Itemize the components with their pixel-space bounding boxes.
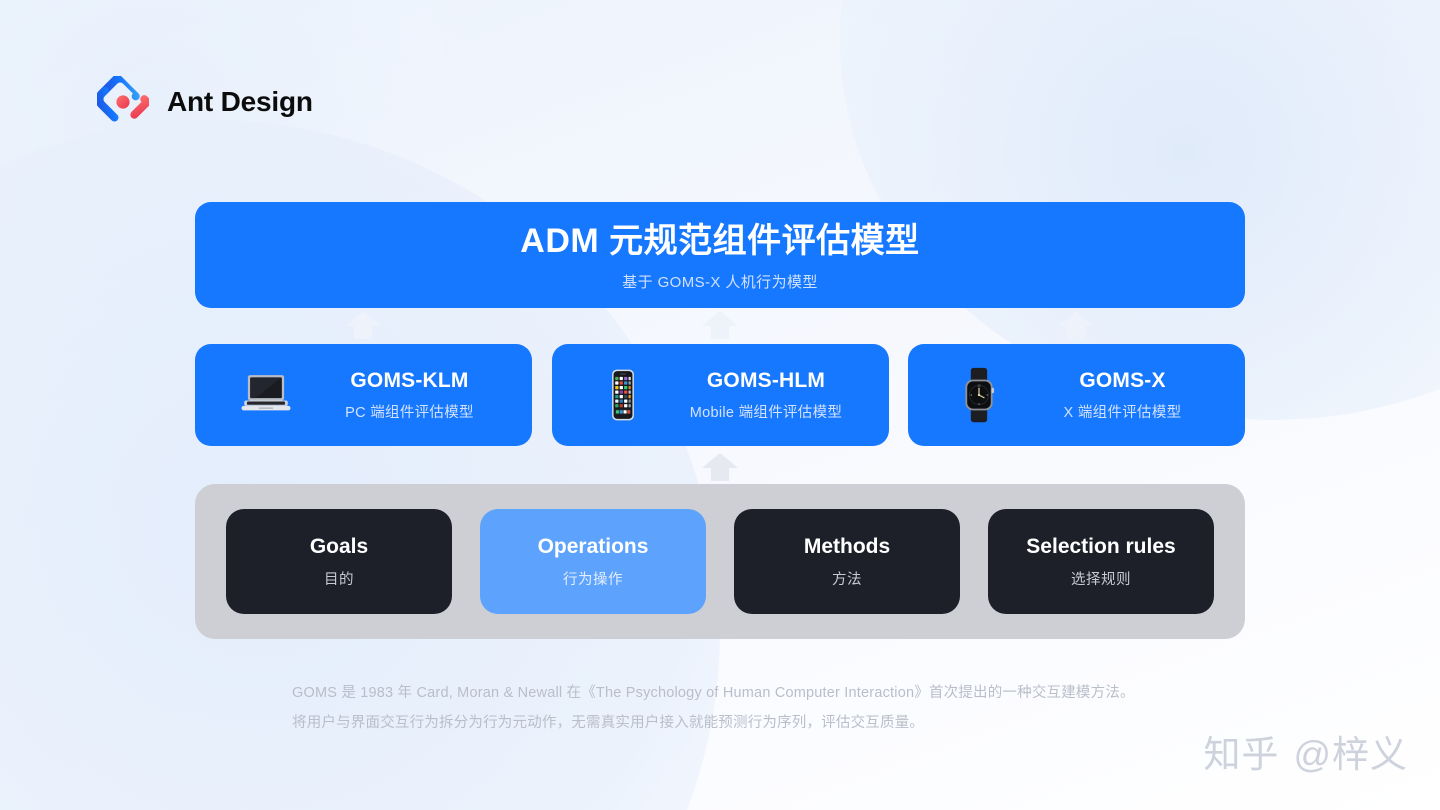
model-subtitle: PC 端组件评估模型 [345, 401, 474, 422]
footnote: GOMS 是 1983 年 Card, Moran & Newall 在《The… [292, 678, 1192, 738]
laptop-icon [237, 366, 295, 424]
model-card-goms-hlm[interactable]: GOMS-HLM Mobile 端组件评估模型 [552, 344, 889, 446]
goms-item-operations[interactable]: Operations 行为操作 [480, 509, 706, 614]
watermark-handle: @梓义 [1293, 724, 1408, 778]
brand-lockup: Ant Design [97, 76, 313, 128]
goms-item-selection-rules[interactable]: Selection rules 选择规则 [988, 509, 1214, 614]
model-card-goms-x[interactable]: 12 3 6 9 GOMS-X X 端组件评估模型 [908, 344, 1245, 446]
goms-title: Goals [310, 534, 368, 559]
arrow-up-icon [698, 310, 742, 340]
arrow-up-icon [1054, 310, 1098, 340]
goms-subtitle: 选择规则 [1071, 568, 1131, 589]
brand-name: Ant Design [167, 86, 313, 118]
model-card-text: GOMS-KLM PC 端组件评估模型 [317, 368, 532, 421]
goms-subtitle: 行为操作 [563, 568, 623, 589]
model-card-text: GOMS-HLM Mobile 端组件评估模型 [674, 368, 889, 421]
watermark: 知乎 @梓义 [1203, 724, 1408, 778]
model-title: GOMS-KLM [350, 368, 468, 393]
smart-watch-icon: 12 3 6 9 [950, 366, 1008, 424]
model-title: GOMS-HLM [707, 368, 825, 393]
page-subtitle: 基于 GOMS-X 人机行为模型 [622, 271, 818, 292]
arrow-up-icon [341, 310, 385, 340]
header-banner: ADM 元规范组件评估模型 基于 GOMS-X 人机行为模型 [195, 202, 1245, 308]
watermark-site: 知乎 [1203, 724, 1279, 778]
mobile-phone-icon [594, 366, 652, 424]
ant-design-logo-icon [97, 76, 149, 128]
model-title: GOMS-X [1079, 368, 1165, 393]
svg-text:12: 12 [977, 383, 981, 387]
model-card-text: GOMS-X X 端组件评估模型 [1030, 368, 1245, 421]
goms-title: Selection rules [1026, 534, 1175, 559]
goms-subtitle: 目的 [324, 568, 354, 589]
slide-canvas: Ant Design ADM 元规范组件评估模型 基于 GOMS-X 人机行为模… [0, 0, 1440, 810]
goms-subtitle: 方法 [832, 568, 862, 589]
model-subtitle: X 端组件评估模型 [1064, 401, 1182, 422]
model-subtitle: Mobile 端组件评估模型 [690, 401, 842, 422]
page-title: ADM 元规范组件评估模型 [520, 222, 919, 261]
goms-panel: Goals 目的 Operations 行为操作 Methods 方法 Sele… [195, 484, 1245, 639]
footnote-line-2: 将用户与界面交互行为拆分为行为元动作，无需真实用户接入就能预测行为序列，评估交互… [292, 708, 1192, 738]
decorative-blob-top-left [0, 0, 460, 400]
footnote-line-1: GOMS 是 1983 年 Card, Moran & Newall 在《The… [292, 678, 1192, 708]
goms-title: Operations [538, 534, 649, 559]
model-card-goms-klm[interactable]: GOMS-KLM PC 端组件评估模型 [195, 344, 532, 446]
goms-item-methods[interactable]: Methods 方法 [734, 509, 960, 614]
goms-title: Methods [804, 534, 890, 559]
arrow-up-icon [698, 452, 742, 482]
model-cards-row: GOMS-KLM PC 端组件评估模型 [195, 344, 1245, 446]
goms-item-goals[interactable]: Goals 目的 [226, 509, 452, 614]
